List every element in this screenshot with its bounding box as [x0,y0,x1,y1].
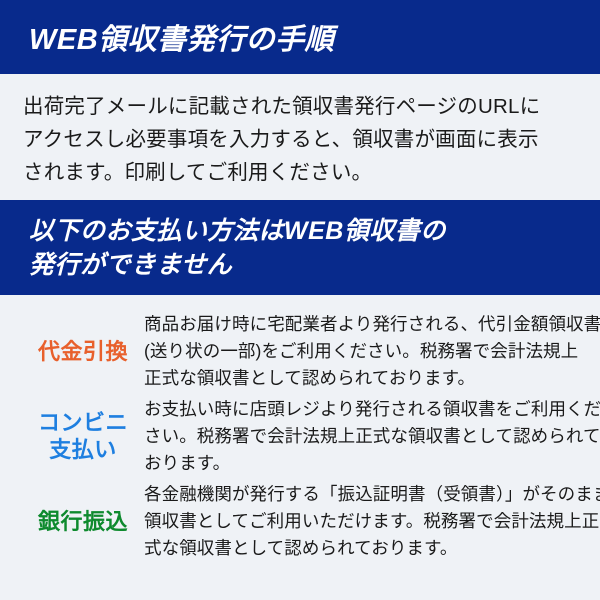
payment-method-label-bank-transfer: 銀行振込 [22,481,144,535]
description-line-2: 領収書としてご利用いただけます。税務署で会計法規上正 [144,508,600,535]
page-title: WEB領収書発行の手順 [29,16,334,58]
receipt-info-page: WEB領収書発行の手順 出荷完了メールに記載された領収書発行ページのURLに ア… [0,0,600,600]
payment-method-description-bank-transfer: 各金融機関が発行する「振込証明書（受領書）」がそのまま 領収書としてご利用いただ… [144,481,600,562]
payment-method-label-convenience-store: コンビニ 支払い [22,396,144,463]
description-line-1: お支払い時に店頭レジより発行される領収書をご利用くだ [144,396,600,423]
payment-method-row-convenience-store: コンビニ 支払い お支払い時に店頭レジより発行される領収書をご利用くだ さい。税… [0,380,600,465]
payment-methods-list: 代金引換 商品お届け時に宅配業者より発行される、代引金額領収書 (送り状の一部)… [0,295,600,550]
payment-method-row-bank-transfer: 銀行振込 各金融機関が発行する「振込証明書（受領書）」がそのまま 領収書としてご… [0,465,600,550]
description-line-3: 式な領収書として認められております。 [144,535,600,562]
payment-method-label-line-1: コンビニ [22,409,144,436]
notice-line-1: 以下のお支払い方法はWEB領収書の [29,214,446,248]
payment-method-label-cash-on-delivery: 代金引換 [22,311,144,365]
payment-method-label-line-1: 代金引換 [22,338,144,365]
description-line-2: (送り状の一部)をご利用ください。税務署で会計法規上 [144,338,600,365]
notice-text: 以下のお支払い方法はWEB領収書の 発行ができません [29,214,446,282]
payment-method-row-cash-on-delivery: 代金引換 商品お届け時に宅配業者より発行される、代引金額領収書 (送り状の一部)… [0,295,600,380]
description-line-2: さい。税務署で会計法規上正式な領収書として認められて [144,423,600,450]
description-line-3: おります。 [144,450,600,477]
intro-line-2: アクセスし必要事項を入力すると、領収書が画面に表示 [23,123,578,156]
intro-paragraph: 出荷完了メールに記載された領収書発行ページのURLに アクセスし必要事項を入力す… [0,74,600,200]
intro-line-3: されます。印刷してご利用ください。 [23,156,578,189]
description-line-1: 商品お届け時に宅配業者より発行される、代引金額領収書 [144,311,600,338]
intro-line-1: 出荷完了メールに記載された領収書発行ページのURLに [23,90,578,123]
notice-banner: 以下のお支払い方法はWEB領収書の 発行ができません [0,200,600,295]
payment-method-description-convenience-store: お支払い時に店頭レジより発行される領収書をご利用くだ さい。税務署で会計法規上正… [144,396,600,477]
payment-method-description-cash-on-delivery: 商品お届け時に宅配業者より発行される、代引金額領収書 (送り状の一部)をご利用く… [144,311,600,392]
description-line-3: 正式な領収書として認められております。 [144,365,600,392]
payment-method-label-line-2: 支払い [22,436,144,463]
description-line-1: 各金融機関が発行する「振込証明書（受領書）」がそのまま [144,481,600,508]
notice-line-2: 発行ができません [29,248,446,282]
payment-method-label-line-1: 銀行振込 [22,508,144,535]
page-title-banner: WEB領収書発行の手順 [0,0,600,74]
